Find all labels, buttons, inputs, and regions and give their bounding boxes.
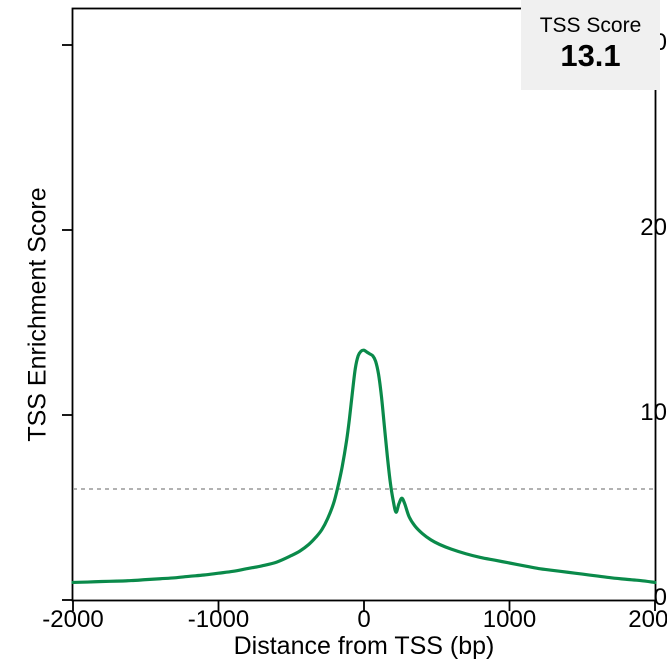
x-tick-label: -2000 <box>13 608 133 632</box>
tss-score-badge: TSS Score 13.1 <box>521 0 660 90</box>
x-tick-label: 1000 <box>450 608 570 632</box>
y-tick-label: 20 <box>611 216 667 240</box>
tss-score-label: TSS Score <box>540 14 642 37</box>
tss-enrichment-figure: 0102030 -2000-1000010002000 TSS Enrichme… <box>0 0 667 669</box>
y-axis-tick-marks <box>62 45 73 600</box>
plot-canvas <box>0 0 667 669</box>
plot-frame <box>73 9 656 601</box>
y-axis-title: TSS Enrichment Score <box>24 55 53 575</box>
x-axis-title: Distance from TSS (bp) <box>72 632 656 661</box>
x-tick-label: 0 <box>304 608 424 632</box>
tss-score-value: 13.1 <box>560 37 620 76</box>
y-tick-label: 10 <box>611 401 667 425</box>
x-tick-label: -1000 <box>159 608 279 632</box>
tss-enrichment-curve <box>73 350 655 582</box>
x-tick-label: 2000 <box>595 608 667 632</box>
axes-frame <box>73 9 656 601</box>
